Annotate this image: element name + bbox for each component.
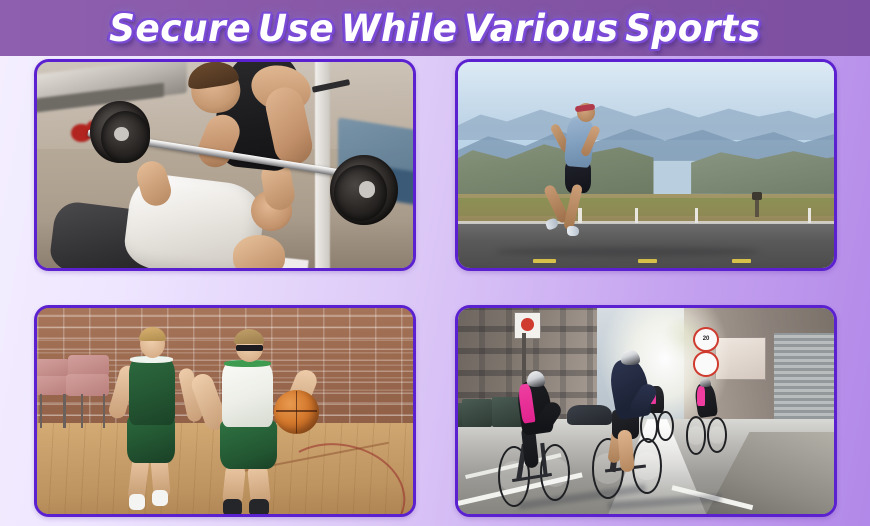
road-dash-marking	[638, 259, 657, 263]
page-title: SecureUseWhileVariousSports	[109, 10, 760, 47]
barbell-collar	[359, 181, 376, 197]
cyclist-helmet	[621, 350, 640, 365]
runner-front-leg	[563, 183, 583, 230]
title-word-2: Use	[258, 10, 334, 47]
photo-gallery: 12	[0, 56, 870, 526]
gym-weightlifting-photo	[37, 62, 413, 268]
desert-grass	[458, 198, 834, 217]
chair-leg	[103, 394, 106, 428]
front-cyclist	[496, 370, 601, 510]
defender-hair	[139, 327, 166, 342]
title-word-4: Various	[464, 10, 618, 47]
trash-bin	[462, 399, 492, 428]
gym-weightlifting-card[interactable]	[34, 59, 416, 271]
cycling-card[interactable]	[455, 305, 837, 517]
basketball-card[interactable]: 12	[34, 305, 416, 517]
runner-shadow	[496, 247, 759, 255]
bicycle-wheel	[707, 417, 727, 453]
center-cyclist	[590, 353, 703, 501]
road-dash-marking	[732, 259, 751, 263]
title-word-3: While	[341, 10, 458, 47]
chair	[37, 376, 70, 395]
road-dash-marking	[533, 259, 556, 263]
page-header: SecureUseWhileVariousSports	[0, 0, 870, 56]
title-word-5: Sports	[625, 10, 760, 47]
sports-goggles	[236, 345, 263, 351]
defender-jersey	[129, 356, 175, 425]
stacked-chairs	[37, 353, 112, 427]
lifter-knee	[233, 235, 286, 268]
runner-front-shoe	[567, 226, 579, 236]
road-edge-line	[458, 221, 834, 224]
road-running-card[interactable]	[455, 59, 837, 271]
street-sign	[514, 312, 540, 339]
road-running-photo	[458, 62, 834, 268]
title-word-1: Secure	[109, 10, 251, 47]
sign-panel	[752, 192, 762, 200]
chair-leg	[81, 394, 84, 428]
defender-sock-left	[129, 494, 146, 510]
chair-leg	[40, 394, 43, 428]
runner-figure	[541, 103, 624, 247]
handler-shorts	[220, 420, 277, 469]
chair	[66, 374, 109, 396]
handler-sock-right	[249, 499, 269, 514]
cyclist-helmet	[527, 371, 545, 386]
basketball-photo: 12	[37, 308, 413, 514]
handler-jersey	[222, 360, 273, 427]
runner-back-shoe	[544, 217, 558, 230]
chair-leg	[63, 394, 66, 428]
speed-limit-sign	[693, 327, 720, 353]
defender-sock-right	[152, 490, 169, 506]
basketball-defender: 12	[112, 329, 195, 510]
basketball	[274, 390, 319, 433]
handler-sock-left	[223, 499, 243, 514]
cycling-photo	[458, 308, 834, 514]
